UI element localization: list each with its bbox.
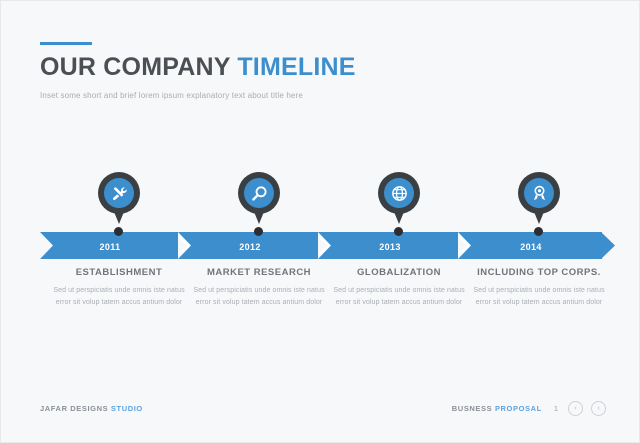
footer-brand: JAFAR DESIGNS STUDIO [40, 404, 143, 413]
footer-brand-main: JAFAR DESIGNS [40, 404, 111, 413]
award-ribbon-icon [531, 185, 548, 202]
timeline-pin-2013[interactable] [378, 172, 420, 228]
milestone-heading: INCLUDING TOP CORPS. [454, 267, 624, 278]
bar-right-arrow-tip [601, 232, 615, 259]
pin-base-dot [394, 227, 403, 236]
page-title: OUR COMPANY TIMELINE [40, 55, 356, 80]
magnifier-icon [251, 185, 268, 202]
milestone-column-2014: INCLUDING TOP CORPS. Sed ut perspiciatis… [454, 267, 624, 310]
page-title-main: OUR COMPANY [40, 53, 237, 81]
milestone-body: Sed ut perspiciatis unde omnis iste natu… [454, 285, 624, 310]
pin-icon-circle [524, 178, 554, 208]
header: OUR COMPANY TIMELINE Inset some short an… [40, 42, 356, 100]
year-label-2014: 2014 [460, 238, 602, 256]
footer-brand-accent: STUDIO [111, 404, 143, 413]
page-subtitle: Inset some short and brief lorem ipsum e… [40, 91, 356, 100]
year-label-2012: 2012 [180, 238, 320, 256]
year-label-2011: 2011 [40, 238, 180, 256]
pin-base-dot [534, 227, 543, 236]
timeline-pin-2011[interactable] [98, 172, 140, 228]
footer-doc-accent: PROPOSAL [495, 404, 542, 413]
slide-canvas: OUR COMPANY TIMELINE Inset some short an… [0, 0, 640, 443]
timeline-pin-2012[interactable] [238, 172, 280, 228]
pin-base-dot [114, 227, 123, 236]
next-page-button[interactable]: › [591, 401, 606, 416]
pin-icon-circle [104, 178, 134, 208]
prev-page-button[interactable]: ‹ [568, 401, 583, 416]
page-title-accent: TIMELINE [237, 53, 355, 81]
pin-icon-circle [244, 178, 274, 208]
globe-icon [391, 185, 408, 202]
timeline-pin-2014[interactable] [518, 172, 560, 228]
title-accent-rule [40, 42, 92, 45]
pin-icon-circle [384, 178, 414, 208]
tools-icon [111, 185, 128, 202]
year-label-2013: 2013 [320, 238, 460, 256]
footer-right: BUSNESS PROPOSAL 1 ‹ › [452, 401, 606, 416]
footer-doc-title: BUSNESS PROPOSAL [452, 404, 542, 413]
pin-base-dot [254, 227, 263, 236]
page-number: 1 [554, 404, 558, 413]
footer-doc-main: BUSNESS [452, 404, 495, 413]
